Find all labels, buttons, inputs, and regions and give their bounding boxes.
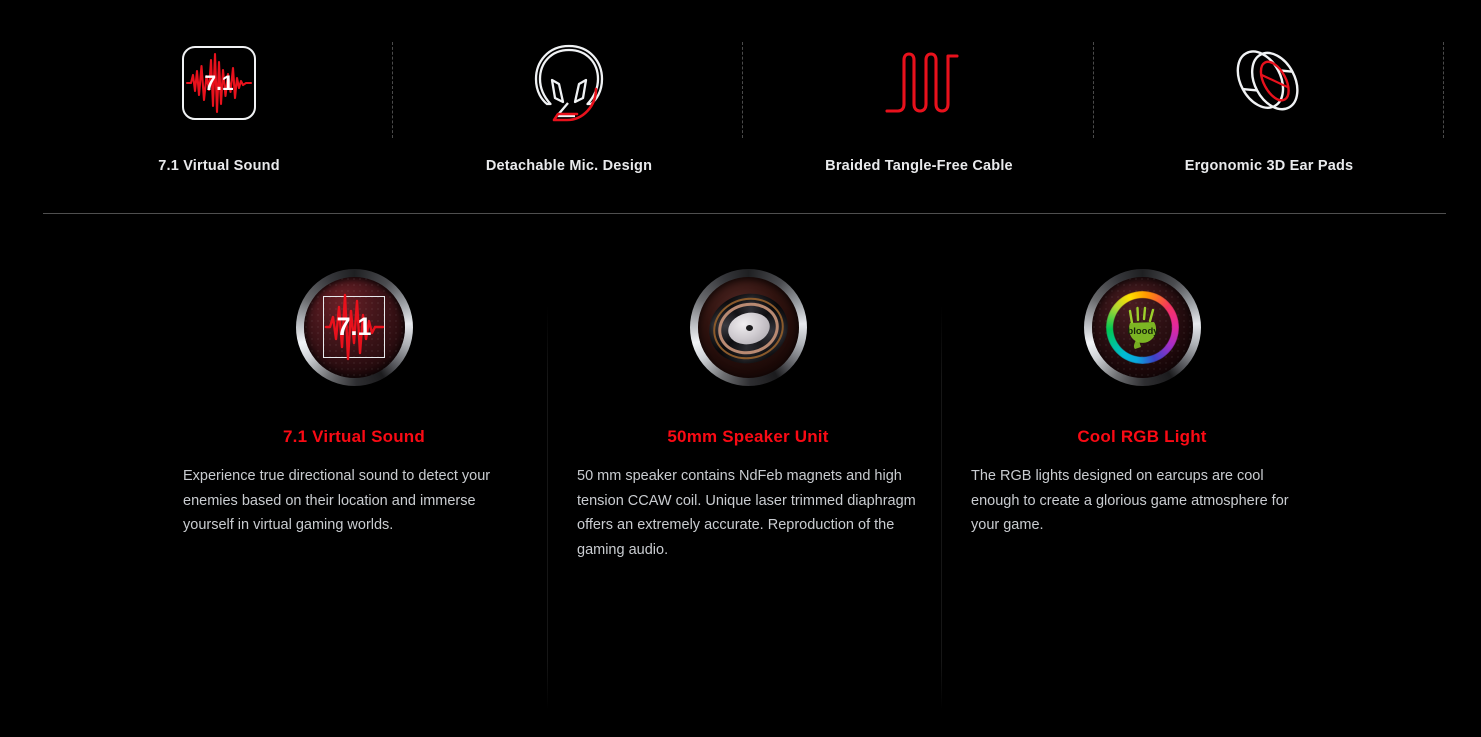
ergonomic-ear-pad-icon (1229, 42, 1309, 124)
badge-inner: bloody (1092, 277, 1193, 378)
top-feature-ergonomic-3d-ear-pads: Ergonomic 3D Ear Pads (1094, 0, 1444, 213)
badge-wrap (551, 240, 945, 415)
top-feature-strip: 7.1 7.1 Virtual Sound Detachable Mic. De… (0, 0, 1481, 213)
braided-cable-icon-wrap (879, 28, 959, 138)
horizontal-section-divider (43, 213, 1446, 214)
feature-column-title: 50mm Speaker Unit (551, 427, 945, 447)
badge-wrap: bloody (945, 240, 1339, 415)
feature-column-cool-rgb-light: bloody Cool RGB Light The RGB lights des… (945, 240, 1339, 737)
rgb-light-badge: bloody (1084, 269, 1201, 386)
feature-column-title: 7.1 Virtual Sound (157, 427, 551, 447)
feature-column-7-1-virtual-sound: 7.1 7.1 Virtual Sound Experience true di… (157, 240, 551, 737)
top-feature-7-1-virtual-sound: 7.1 7.1 Virtual Sound (44, 0, 394, 213)
vertical-dashed-divider (742, 42, 743, 138)
top-feature-label: Braided Tangle-Free Cable (825, 158, 1013, 174)
vertical-dashed-divider (1443, 42, 1444, 138)
vertical-dashed-divider (1093, 42, 1094, 138)
badge-label-text: 7.1 (336, 313, 371, 341)
detachable-mic-headset-icon (527, 40, 611, 126)
feature-columns-section: 7.1 7.1 Virtual Sound Experience true di… (0, 240, 1481, 737)
speaker-driver-badge (690, 269, 807, 386)
feature-column-50mm-speaker-unit: 50mm Speaker Unit 50 mm speaker contains… (551, 240, 945, 737)
feature-column-body: 50 mm speaker contains NdFeb magnets and… (577, 464, 919, 562)
top-feature-detachable-mic-design: Detachable Mic. Design (394, 0, 744, 213)
feature-column-body: Experience true directional sound to det… (183, 464, 525, 538)
seven-one-waveform-icon-wrap: 7.1 (182, 28, 256, 138)
bloody-hand-logo-text: bloody (1127, 326, 1159, 337)
top-feature-label: Detachable Mic. Design (486, 158, 652, 174)
column-separator (941, 305, 942, 710)
column-separator (547, 305, 548, 710)
badge-inner: 7.1 (304, 277, 405, 378)
feature-column-title: Cool RGB Light (945, 427, 1339, 447)
seven-one-waveform-icon: 7.1 (182, 46, 256, 120)
braided-cable-icon (879, 47, 959, 119)
top-feature-braided-tangle-free-cable: Braided Tangle-Free Cable (744, 0, 1094, 213)
bloody-hand-logo: bloody (1122, 306, 1164, 350)
feature-column-body: The RGB lights designed on earcups are c… (971, 464, 1313, 538)
seven-one-virtual-sound-badge: 7.1 (296, 269, 413, 386)
top-feature-label: 7.1 Virtual Sound (158, 158, 280, 174)
detachable-mic-headset-icon-wrap (527, 28, 611, 138)
badge-waveform: 7.1 (304, 277, 405, 378)
badge-inner (698, 277, 799, 378)
vertical-dashed-divider (392, 42, 393, 138)
top-feature-label: Ergonomic 3D Ear Pads (1185, 158, 1354, 174)
ergonomic-ear-pad-icon-wrap (1229, 28, 1309, 138)
driver-center-dot (746, 325, 753, 331)
badge-wrap: 7.1 (157, 240, 551, 415)
seven-one-icon-text: 7.1 (204, 72, 234, 95)
